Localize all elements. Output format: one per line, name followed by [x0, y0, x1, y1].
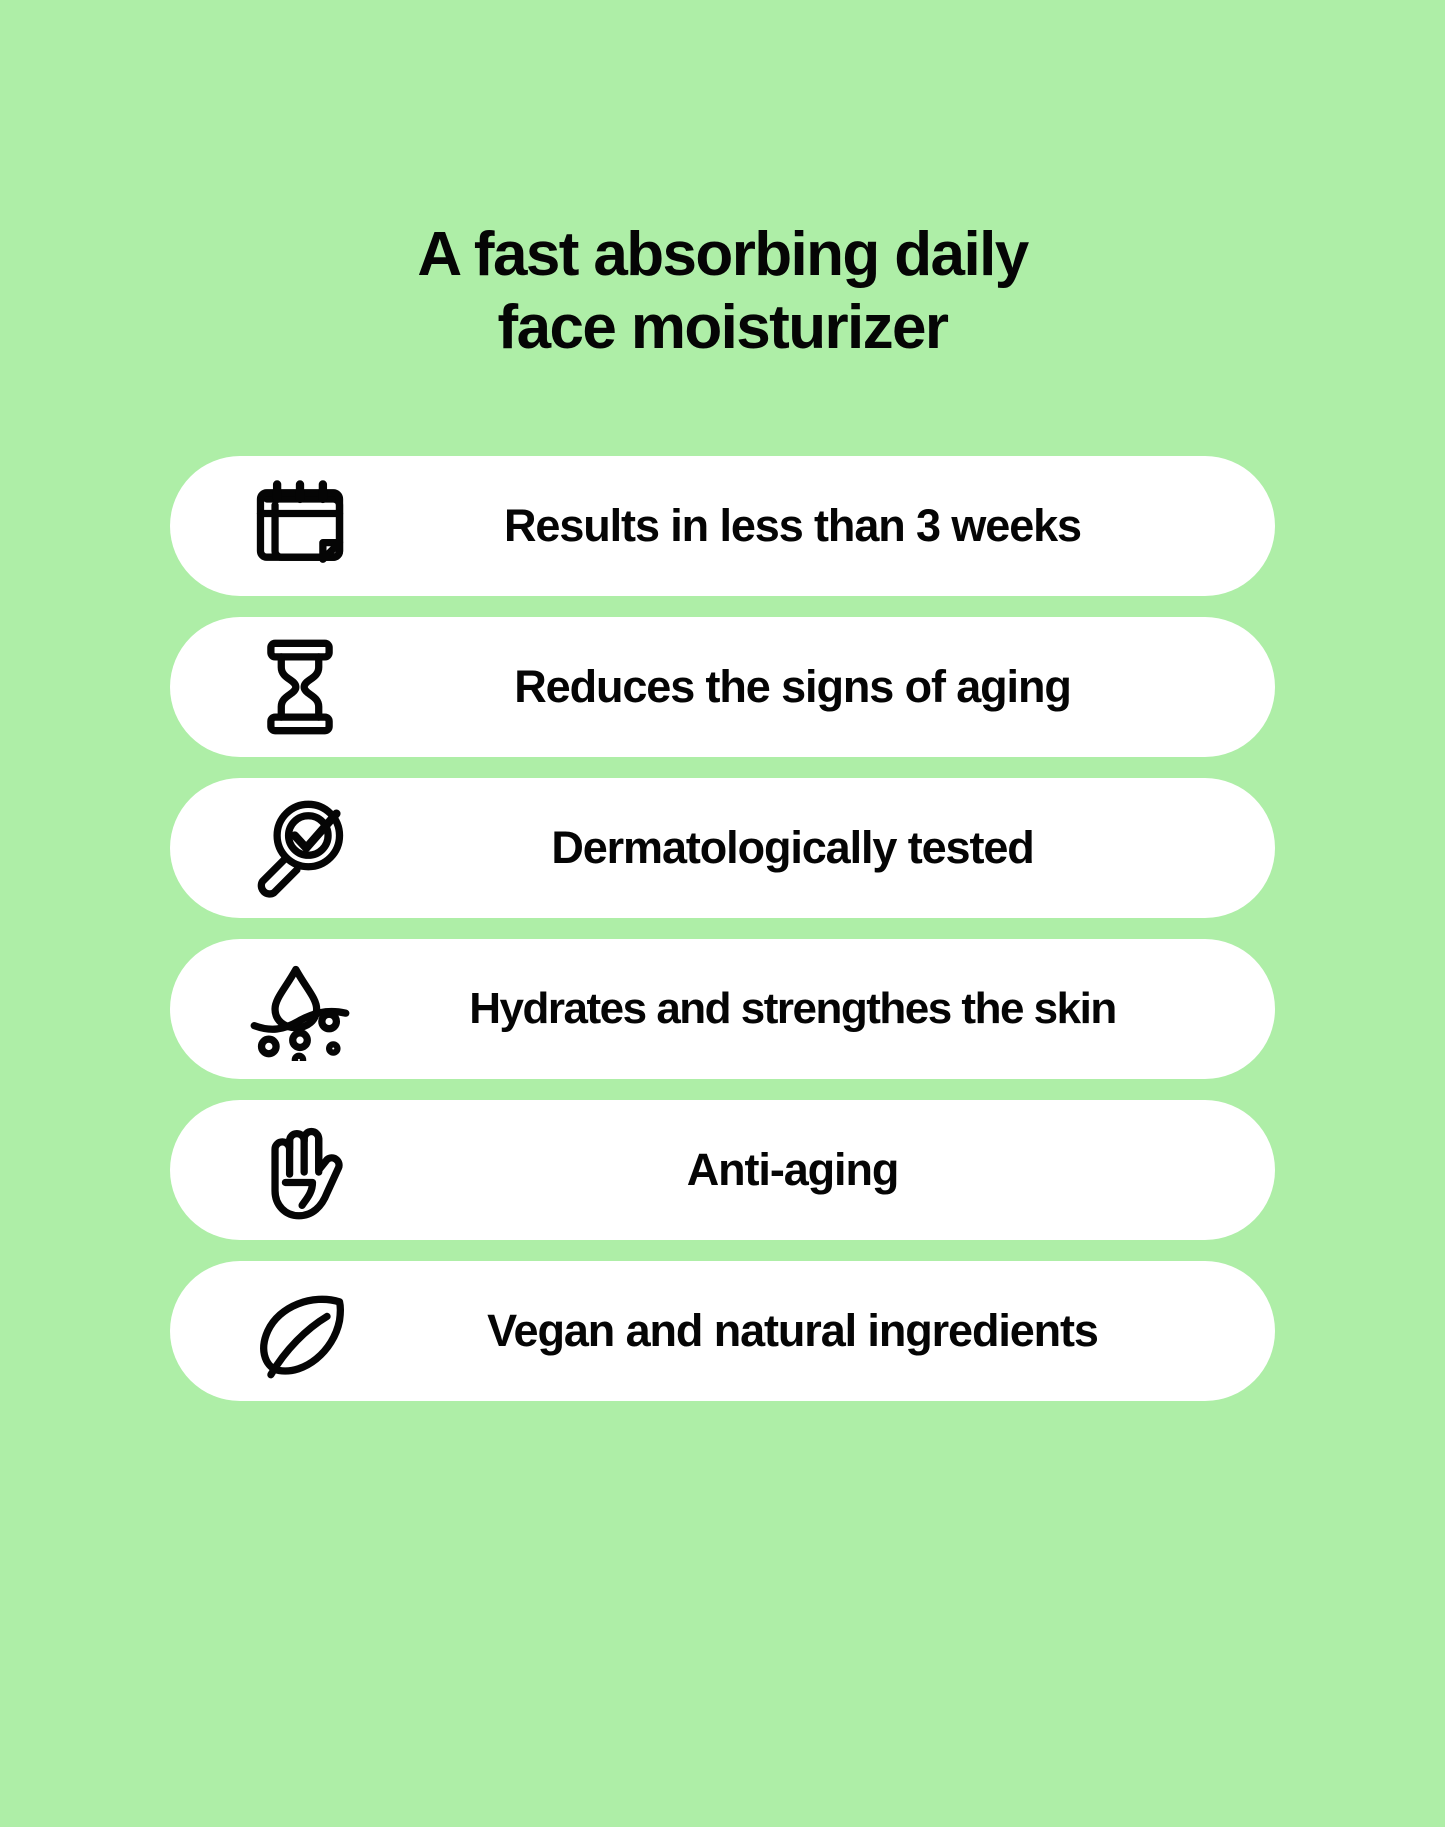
benefit-item-derm-tested[interactable]: Dermatologically tested — [170, 778, 1275, 918]
benefit-item-vegan[interactable]: Vegan and natural ingredients — [170, 1261, 1275, 1401]
benefit-item-anti-aging[interactable]: Anti-aging — [170, 1100, 1275, 1240]
benefit-list: Results in less than 3 weeks Reduces the… — [170, 456, 1275, 1401]
benefit-item-results[interactable]: Results in less than 3 weeks — [170, 456, 1275, 596]
hourglass-icon — [248, 635, 352, 739]
page-title: A fast absorbing daily face moisturizer — [173, 218, 1273, 364]
leaf-icon — [248, 1279, 352, 1383]
hand-palm-icon — [248, 1118, 352, 1222]
water-droplet-icon — [248, 957, 352, 1061]
benefit-item-aging-signs[interactable]: Reduces the signs of aging — [170, 617, 1275, 757]
calendar-icon — [248, 474, 352, 578]
magnifier-check-icon — [248, 796, 352, 900]
promo-card: A fast absorbing daily face moisturizer … — [0, 0, 1445, 1827]
page-title-line-2: face moisturizer — [173, 291, 1273, 364]
benefit-item-hydration[interactable]: Hydrates and strengthes the skin — [170, 939, 1275, 1079]
page-title-line-1: A fast absorbing daily — [173, 218, 1273, 291]
